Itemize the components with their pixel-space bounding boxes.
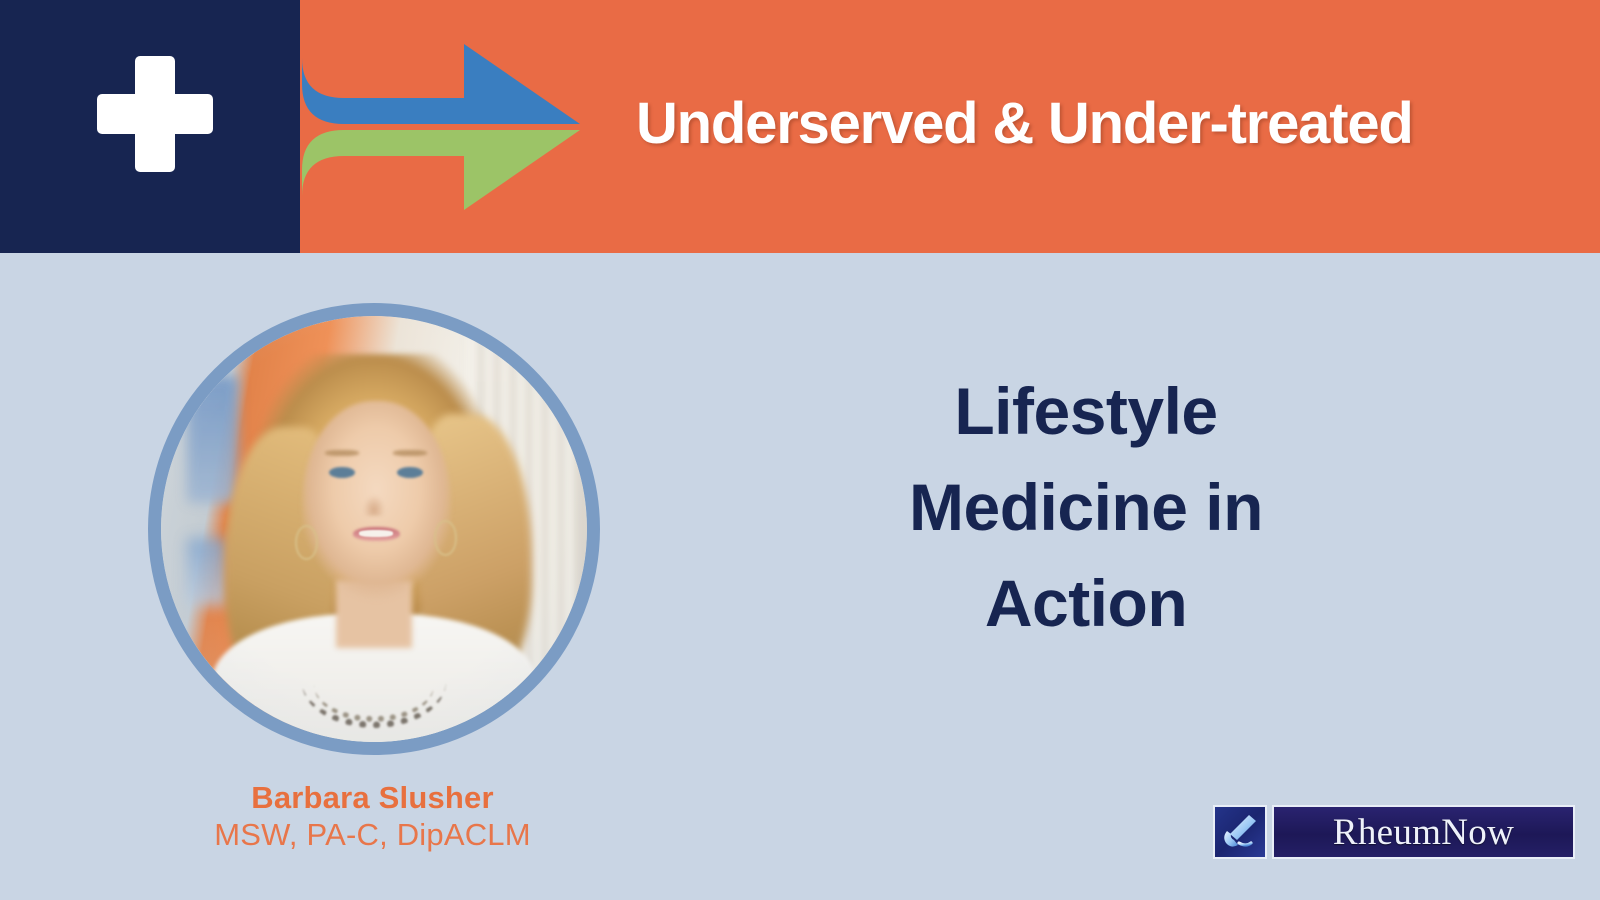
talk-title-line-2: Medicine in <box>806 459 1366 555</box>
rheumnow-wordmark-box: RheumNow <box>1272 805 1575 859</box>
joint-bone-icon <box>1213 805 1267 859</box>
rheumnow-logo[interactable]: RheumNow <box>1213 805 1575 859</box>
portrait-image <box>161 316 587 742</box>
header-banner: Underserved & Under-treated <box>0 0 1600 253</box>
portrait-vignette <box>161 316 587 742</box>
talk-title-line-3: Action <box>806 555 1366 651</box>
arrow-green <box>302 130 580 253</box>
two-branching-arrows-icon <box>280 0 620 253</box>
rheumnow-wordmark: RheumNow <box>1333 814 1514 851</box>
speaker-name: Barbara Slusher <box>0 780 745 816</box>
talk-title: Lifestyle Medicine in Action <box>806 363 1366 651</box>
banner-title: Underserved & Under-treated <box>636 84 1556 164</box>
arrow-blue <box>302 0 580 124</box>
medical-cross-icon <box>97 56 213 172</box>
speaker-portrait <box>148 303 600 755</box>
slide-body: Barbara Slusher MSW, PA-C, DipACLM Lifes… <box>0 253 1600 900</box>
speaker-credentials: MSW, PA-C, DipACLM <box>0 816 745 854</box>
cross-vertical-bar <box>135 56 175 172</box>
talk-title-line-1: Lifestyle <box>806 363 1366 459</box>
